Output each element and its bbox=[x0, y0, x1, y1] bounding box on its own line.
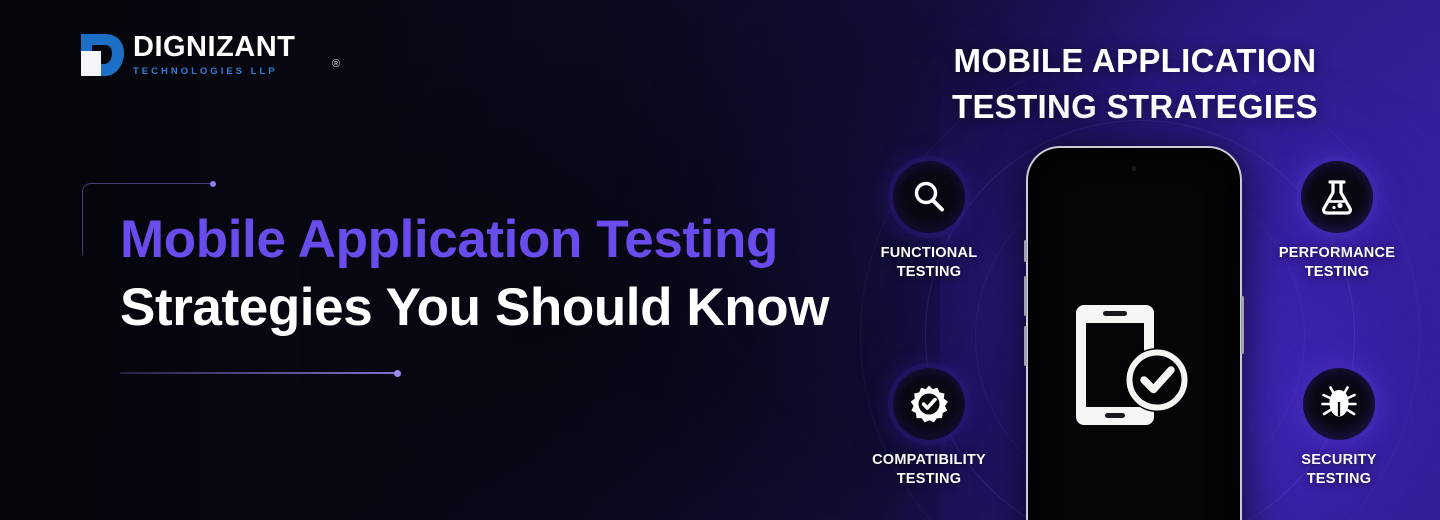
badge-label: SECURITY TESTING bbox=[1244, 451, 1434, 488]
badge-icon-container bbox=[1303, 368, 1375, 440]
badge-label: FUNCTIONAL TESTING bbox=[834, 244, 1024, 281]
badge-label-line1: FUNCTIONAL bbox=[834, 244, 1024, 263]
brand-name: DIGNIZANT bbox=[133, 33, 295, 62]
banner-root: DIGNIZANT TECHNOLOGIES LLP ® MOBILE APPL… bbox=[0, 0, 1440, 520]
smartphone-check-icon bbox=[1070, 299, 1198, 431]
badge-label-line1: SECURITY bbox=[1244, 451, 1434, 470]
gear-check-icon bbox=[909, 384, 949, 424]
badge-label-line2: TESTING bbox=[1244, 470, 1434, 489]
badge-security-testing[interactable]: SECURITY TESTING bbox=[1244, 368, 1434, 488]
badge-label: COMPATIBILITY TESTING bbox=[834, 451, 1024, 488]
badge-label-line1: PERFORMANCE bbox=[1242, 244, 1432, 263]
power-button[interactable] bbox=[1241, 296, 1244, 354]
bracket-end-dot-icon bbox=[210, 181, 216, 187]
magnifier-icon bbox=[911, 179, 947, 215]
badge-compatibility-testing[interactable]: COMPATIBILITY TESTING bbox=[834, 368, 1024, 488]
dignizant-d-logo-icon bbox=[78, 31, 128, 79]
badge-label-line2: TESTING bbox=[834, 263, 1024, 282]
registered-trademark-icon: ® bbox=[332, 58, 340, 70]
underline-rule-decoration bbox=[120, 372, 398, 374]
badge-label-line2: TESTING bbox=[834, 470, 1024, 489]
badge-label-line1: COMPATIBILITY bbox=[834, 451, 1024, 470]
badge-functional-testing[interactable]: FUNCTIONAL TESTING bbox=[834, 161, 1024, 281]
badge-label-line2: TESTING bbox=[1242, 263, 1432, 282]
brand-logo[interactable]: DIGNIZANT TECHNOLOGIES LLP ® bbox=[78, 31, 295, 79]
banner-title-line2: TESTING STRATEGIES bbox=[880, 84, 1390, 130]
volume-down-button[interactable] bbox=[1024, 326, 1027, 366]
badge-icon-container bbox=[893, 368, 965, 440]
brand-tagline: TECHNOLOGIES LLP bbox=[133, 66, 295, 77]
phone-mockup bbox=[1026, 146, 1242, 520]
mute-switch-button[interactable] bbox=[1024, 240, 1027, 262]
rule-end-dot-icon bbox=[394, 370, 401, 377]
volume-up-button[interactable] bbox=[1024, 276, 1027, 316]
badge-icon-container bbox=[1301, 161, 1373, 233]
flask-icon bbox=[1319, 178, 1355, 216]
banner-title-line1: MOBILE APPLICATION bbox=[880, 38, 1390, 84]
page-title-line1: Mobile Application Testing bbox=[120, 211, 910, 268]
page-title: Mobile Application Testing Strategies Yo… bbox=[120, 211, 910, 336]
front-camera-dot-icon bbox=[1132, 166, 1137, 171]
banner-title: MOBILE APPLICATION TESTING STRATEGIES bbox=[880, 38, 1390, 129]
badge-label: PERFORMANCE TESTING bbox=[1242, 244, 1432, 281]
page-title-line2: Strategies You Should Know bbox=[120, 279, 910, 336]
bug-icon bbox=[1320, 385, 1358, 423]
badge-icon-container bbox=[893, 161, 965, 233]
badge-performance-testing[interactable]: PERFORMANCE TESTING bbox=[1242, 161, 1432, 281]
